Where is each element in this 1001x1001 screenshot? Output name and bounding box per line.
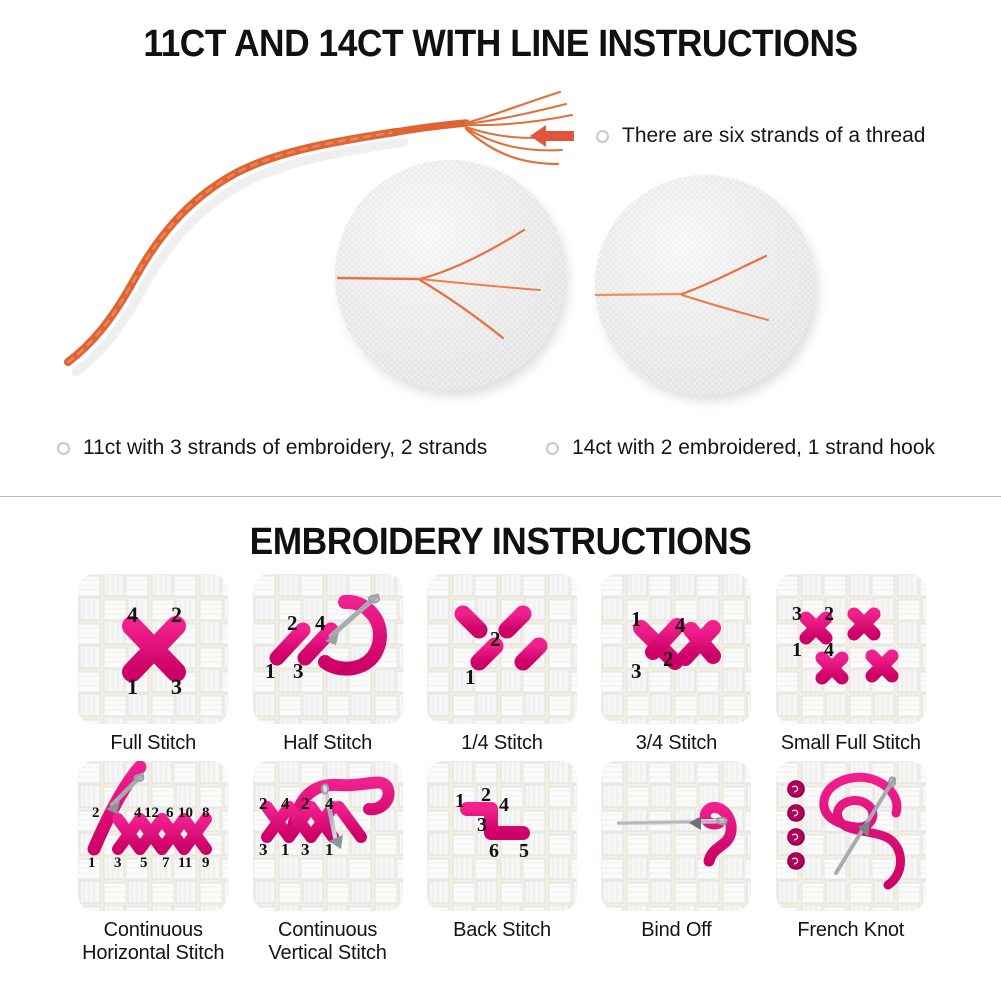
stitch-number: 2 <box>287 611 298 635</box>
six-strands-note-label: There are six strands of a thread <box>622 124 926 148</box>
stitch-number: 2 <box>301 794 310 813</box>
stitch-label: Continuous Horizontal Stitch <box>82 919 224 965</box>
arrow-left-icon <box>530 125 574 147</box>
stitch-label: Small Full Stitch <box>781 732 921 755</box>
stitch-number: 4 <box>499 794 509 816</box>
stitch-diagram-small-full-stitch: 3 2 1 4 <box>776 574 926 724</box>
stitch-number: 4 <box>127 602 138 627</box>
stitch-number: 2 <box>490 627 501 651</box>
stitch-number: 8 <box>202 805 210 821</box>
stitch-diagram-bind-off <box>601 761 751 911</box>
caption-11ct-label: 11ct with 3 strands of embroidery, 2 str… <box>83 436 487 460</box>
stitch-number: 2 <box>92 805 100 821</box>
caption-14ct: 14ct with 2 embroidered, 1 strand hook <box>546 436 935 460</box>
stitch-number: 1 <box>631 607 642 631</box>
cloth-circle-14ct <box>595 175 815 395</box>
stitch-label: Continuous Vertical Stitch <box>269 919 387 965</box>
six-strands-note: There are six strands of a thread <box>530 124 926 148</box>
ring-bullet-icon <box>596 130 609 143</box>
stitch-diagram-quarter-stitch: 2 1 <box>427 574 577 724</box>
stitch-number: 4 <box>315 611 326 635</box>
stitch-number: 3 <box>259 840 268 859</box>
ring-bullet-icon <box>546 442 559 455</box>
stitch-number: 4 <box>675 613 686 637</box>
stitch-cell-three-quarter-stitch[interactable]: 1 4 2 3 3/4 Stitch <box>589 574 763 755</box>
stitch-diagram-continuous-vertical-stitch: 2 4 2 4 3 1 3 1 <box>253 761 403 911</box>
stitch-number: 2 <box>663 647 674 671</box>
stitch-number: 7 <box>162 855 170 871</box>
stitch-number: 11 <box>178 855 192 871</box>
stitch-number: 3 <box>792 603 802 625</box>
caption-11ct: 11ct with 3 strands of embroidery, 2 str… <box>57 436 487 460</box>
stitch-label: 1/4 Stitch <box>461 732 542 755</box>
stitch-number: 1 <box>455 790 465 812</box>
stitch-grid: 4 2 1 3 Full Stitch <box>66 574 938 965</box>
stitch-number: 2 <box>259 794 268 813</box>
caption-14ct-label: 14ct with 2 embroidered, 1 strand hook <box>572 436 935 460</box>
stitch-number: 6 <box>489 840 499 862</box>
embroidery-instructions-section: EMBROIDERY INSTRUCTIONS <box>0 498 1001 1001</box>
stitch-number: 3 <box>477 814 487 836</box>
stitch-number: 2 <box>824 603 834 625</box>
stitch-number: 5 <box>519 840 529 862</box>
stitch-number: 4 <box>824 639 834 661</box>
stitch-number: 3 <box>301 840 310 859</box>
stitch-label: 3/4 Stitch <box>636 732 717 755</box>
stitch-cell-bind-off[interactable]: Bind Off <box>589 761 763 965</box>
section-divider <box>0 496 1001 497</box>
page-title: 11CT AND 14CT WITH LINE INSTRUCTIONS <box>35 22 966 66</box>
stitch-number: 1 <box>465 665 476 689</box>
stitch-number: 1 <box>792 639 802 661</box>
stitch-number: 3 <box>114 855 122 871</box>
stitch-diagram-french-knot <box>776 761 926 911</box>
stitch-cell-half-stitch[interactable]: 2 4 1 3 Half Stitch <box>240 574 414 755</box>
ring-bullet-icon <box>57 442 70 455</box>
stitch-cell-quarter-stitch[interactable]: 2 1 1/4 Stitch <box>415 574 589 755</box>
stitch-number: 3 <box>631 659 642 683</box>
thread-instructions-section: 11CT AND 14CT WITH LINE INSTRUCTIONS <box>0 0 1001 497</box>
stitch-number: 1 <box>281 840 290 859</box>
stitch-diagram-back-stitch: 1 2 4 3 6 5 <box>427 761 577 911</box>
stitch-number: 1 <box>325 840 334 859</box>
stitch-cell-small-full-stitch[interactable]: 3 2 1 4 Small Full Stitch <box>764 574 938 755</box>
embroidery-section-title: EMBROIDERY INSTRUCTIONS <box>35 520 966 564</box>
stitch-number: 4 <box>281 794 290 813</box>
stitch-number: 2 <box>171 602 182 627</box>
stitch-number: 4 <box>325 794 334 813</box>
stitch-cell-full-stitch[interactable]: 4 2 1 3 Full Stitch <box>66 574 240 755</box>
stitch-number: 1 <box>265 659 276 683</box>
stitch-number: 3 <box>293 659 304 683</box>
stitch-number: 10 <box>178 805 193 821</box>
stitch-number: 3 <box>171 674 182 699</box>
stitch-number: 1 <box>127 674 138 699</box>
stitch-number: 12 <box>144 805 159 821</box>
stitch-diagram-full-stitch: 4 2 1 3 <box>78 574 228 724</box>
stitch-diagram-three-quarter-stitch: 1 4 2 3 <box>601 574 751 724</box>
stitch-number: 5 <box>140 855 148 871</box>
stitch-diagram-continuous-horizontal-stitch: 2 4 12 6 10 8 1 3 5 7 11 9 <box>78 761 228 911</box>
stitch-diagram-half-stitch: 2 4 1 3 <box>253 574 403 724</box>
stitch-cell-back-stitch[interactable]: 1 2 4 3 6 5 Back Stitch <box>415 761 589 965</box>
cloth-circle-11ct <box>335 160 565 390</box>
stitch-label: Bind Off <box>641 919 711 942</box>
stitch-cell-french-knot[interactable]: French Knot <box>764 761 938 965</box>
stitch-label: Back Stitch <box>453 919 551 942</box>
stitch-number: 4 <box>134 805 142 821</box>
stitch-cell-continuous-horizontal-stitch[interactable]: 2 4 12 6 10 8 1 3 5 7 11 9 Continuo <box>66 761 240 965</box>
stitch-label: Half Stitch <box>283 732 372 755</box>
stitch-number: 6 <box>166 805 174 821</box>
stitch-number: 2 <box>481 784 491 806</box>
stitch-label: Full Stitch <box>110 732 196 755</box>
stitch-number: 9 <box>202 855 210 871</box>
stitch-number: 1 <box>88 855 96 871</box>
stitch-label: French Knot <box>797 919 904 942</box>
stitch-cell-continuous-vertical-stitch[interactable]: 2 4 2 4 3 1 3 1 Continuous Vertical Stit… <box>240 761 414 965</box>
